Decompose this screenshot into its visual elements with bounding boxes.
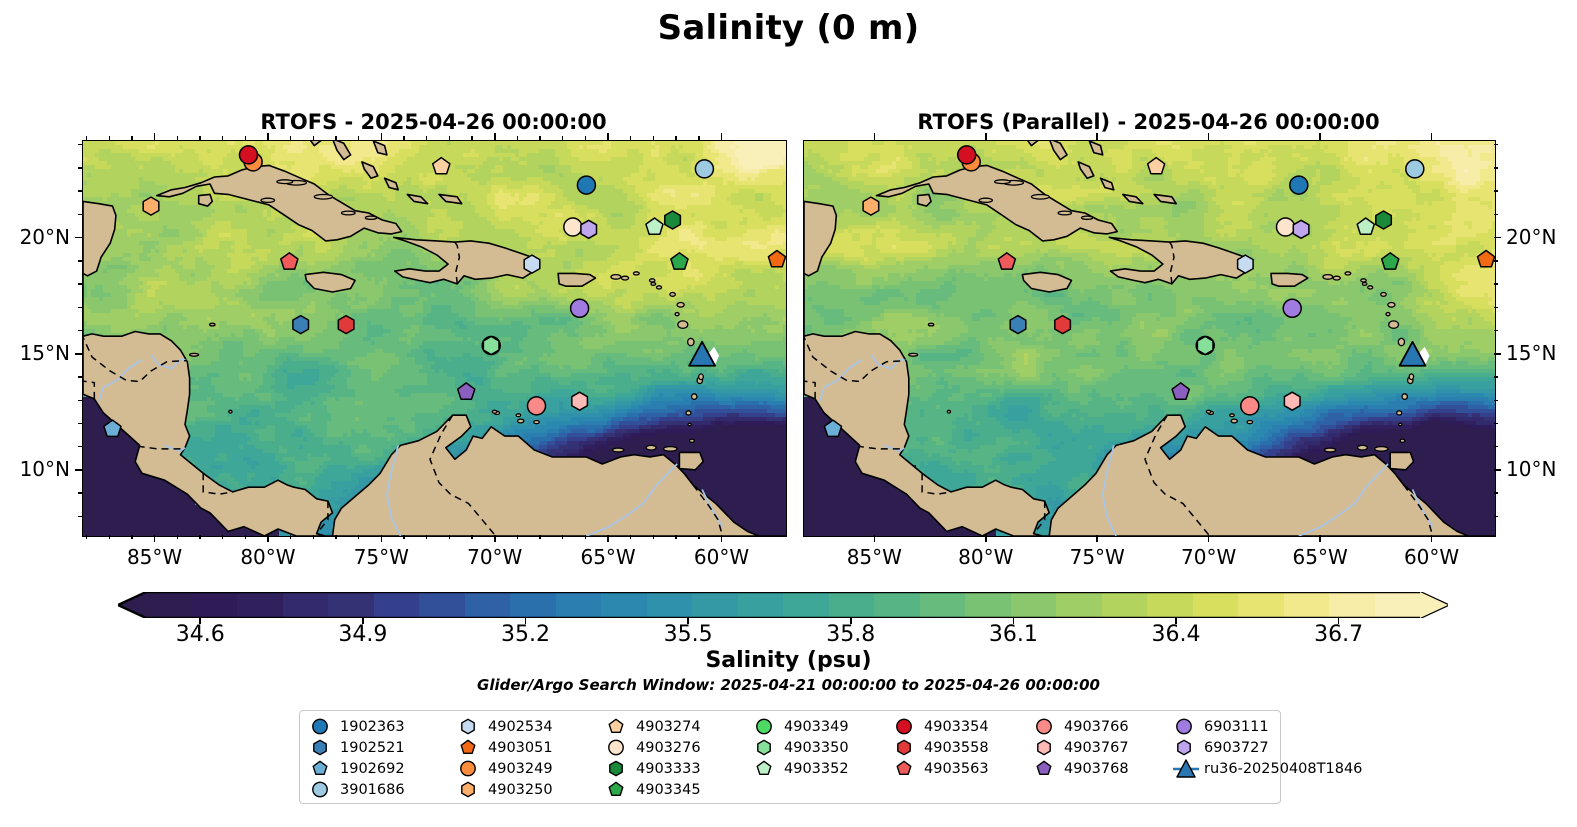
ytick-minor	[78, 214, 82, 215]
xtick-minor	[630, 535, 631, 539]
colorbar-segment	[1147, 592, 1193, 618]
ytick-minor	[1494, 423, 1498, 424]
xtick-major	[267, 535, 269, 542]
legend-label: 4903276	[634, 740, 701, 756]
legend-marker-4903768	[1032, 758, 1062, 779]
legend-label: 4902534	[486, 719, 553, 735]
xtick-minor-top	[539, 136, 540, 140]
legend-label: 4903333	[634, 761, 701, 777]
xtick-major-top	[607, 133, 609, 140]
legend-label: 4903352	[782, 761, 849, 777]
xtick-minor-top	[471, 136, 472, 140]
xtick-major-top	[721, 133, 723, 140]
ytick-minor	[1494, 190, 1498, 191]
legend-marker-1902521	[308, 737, 338, 758]
xtick-minor	[131, 535, 132, 539]
legend-item[interactable]: 1902363	[308, 716, 456, 737]
xtick-label: 75°W	[1052, 545, 1142, 569]
xtick-minor-top	[222, 136, 223, 140]
xtick-minor	[675, 535, 676, 539]
colorbar-segment	[237, 592, 283, 618]
legend-item[interactable]: 4902534	[456, 716, 604, 737]
legend-item[interactable]: 4903249	[456, 758, 604, 779]
ytick-major	[75, 353, 82, 355]
legend-item[interactable]: 6903727	[1172, 737, 1362, 758]
colorbar-segment	[1284, 592, 1330, 618]
xtick-minor-top	[109, 136, 110, 140]
ytick-minor	[1494, 400, 1498, 401]
ytick-minor	[78, 260, 82, 261]
legend-label: 4903051	[486, 740, 553, 756]
xtick-minor-top	[426, 136, 427, 140]
xtick-minor	[653, 535, 654, 539]
colorbar-segment	[1011, 592, 1057, 618]
xtick-major-top	[381, 133, 383, 140]
legend-item[interactable]: 4903352	[752, 758, 892, 779]
legend-item[interactable]: 4903766	[1032, 716, 1172, 737]
colorbar-tick-label: 35.2	[465, 622, 585, 647]
legend-column: 490376649037674903768	[1032, 716, 1172, 800]
legend-item[interactable]: 4903558	[892, 737, 1032, 758]
ytick-minor	[1494, 167, 1498, 168]
xtick-minor-top	[585, 136, 586, 140]
marker-4903250	[863, 197, 879, 215]
xtick-minor-top	[177, 136, 178, 140]
xtick-label: 80°W	[223, 545, 313, 569]
legend-marker-1902363	[308, 716, 338, 737]
ytick-minor	[1494, 307, 1498, 308]
legend-item[interactable]: 4903274	[604, 716, 752, 737]
marker-4903350	[1197, 337, 1213, 355]
xtick-minor-top	[630, 136, 631, 140]
ytick-minor	[1494, 330, 1498, 331]
xtick-major-top	[1431, 133, 1433, 140]
ytick-minor	[1494, 492, 1498, 493]
colorbar[interactable]	[118, 592, 1448, 618]
colorbar-segment	[283, 592, 329, 618]
xtick-major	[607, 535, 609, 542]
legend-label: 4903767	[1062, 740, 1129, 756]
colorbar-segment	[1375, 592, 1421, 618]
xtick-major-top	[494, 133, 496, 140]
legend-marker-4903766	[1032, 716, 1062, 737]
xtick-minor	[313, 535, 314, 539]
xtick-minor	[86, 535, 87, 539]
xtick-label: 70°W	[450, 545, 540, 569]
xtick-major	[1208, 535, 1210, 542]
xtick-major-top	[267, 133, 269, 140]
legend-label: 4903349	[782, 719, 849, 735]
xtick-minor-top	[335, 136, 336, 140]
legend-marker-4903333	[604, 758, 634, 779]
ytick-minor	[78, 376, 82, 377]
xtick-minor-top	[517, 136, 518, 140]
colorbar-segment	[1238, 592, 1284, 618]
legend-label: 4903249	[486, 761, 553, 777]
xtick-major	[985, 535, 987, 542]
ytick-minor	[1494, 283, 1498, 284]
marker-4903276	[564, 218, 582, 236]
colorbar-segment	[601, 592, 647, 618]
legend-marker-4903051	[456, 737, 486, 758]
marker-1902521	[293, 316, 309, 334]
marker-6903727	[1293, 220, 1309, 238]
marker-3901686	[695, 160, 713, 178]
legend-column: 490335449035584903563	[892, 716, 1032, 800]
colorbar-segment	[647, 592, 693, 618]
legend-item[interactable]: 3901686	[308, 779, 456, 800]
xtick-minor-top	[245, 136, 246, 140]
search-window-caption: Glider/Argo Search Window: 2025-04-21 00…	[0, 676, 1577, 694]
marker-3901686	[1406, 160, 1424, 178]
xtick-label: 85°W	[110, 545, 200, 569]
colorbar-tick-label: 36.7	[1279, 622, 1399, 647]
xtick-minor	[449, 535, 450, 539]
xtick-major	[721, 535, 723, 542]
colorbar-segment	[965, 592, 1011, 618]
ytick-minor	[78, 167, 82, 168]
marker-4902534	[524, 255, 540, 273]
legend-marker-4903276	[604, 737, 634, 758]
figure-suptitle: Salinity (0 m)	[0, 8, 1577, 48]
ytick-label: 20°N	[0, 225, 70, 249]
colorbar-tick-label: 34.9	[303, 622, 423, 647]
legend-marker-4903767	[1032, 737, 1062, 758]
colorbar-segment	[1193, 592, 1239, 618]
legend-marker-4903249	[456, 758, 486, 779]
ytick-minor	[78, 400, 82, 401]
marker-6903727	[581, 220, 597, 238]
colorbar-tick-label: 35.5	[628, 622, 748, 647]
colorbar-segment	[328, 592, 374, 618]
marker-4902534	[1238, 255, 1254, 273]
colorbar-tick-label: 36.4	[1116, 622, 1236, 647]
legend-item[interactable]: 4903768	[1032, 758, 1172, 779]
marker-4903558	[1055, 316, 1071, 334]
legend-label: 4903558	[922, 740, 989, 756]
xtick-minor-top	[86, 136, 87, 140]
legend-item[interactable]: ru36-20250408T1846	[1172, 758, 1362, 779]
ytick-minor	[78, 492, 82, 493]
marker-4903766	[1241, 397, 1259, 415]
xtick-minor	[562, 535, 563, 539]
colorbar-segment	[556, 592, 602, 618]
map-panel-rtofs[interactable]	[82, 140, 787, 537]
colorbar-tick-label: 34.6	[140, 622, 260, 647]
colorbar-segment	[692, 592, 738, 618]
legend-item[interactable]: 4903563	[892, 758, 1032, 779]
legend-label: 4903345	[634, 782, 701, 798]
marker-4903558	[338, 316, 354, 334]
colorbar-segment	[465, 592, 511, 618]
colorbar-segment	[783, 592, 829, 618]
xtick-minor-top	[403, 136, 404, 140]
legend-marker-4903350	[752, 737, 782, 758]
marker-4903333	[1376, 211, 1392, 229]
ytick-major	[1494, 237, 1501, 239]
xtick-minor	[177, 535, 178, 539]
ytick-minor	[78, 446, 82, 447]
ytick-minor	[78, 516, 82, 517]
legend-column: 490334949033504903352	[752, 716, 892, 800]
legend-marker-4903352	[752, 758, 782, 779]
colorbar-gradient	[146, 592, 1420, 618]
legend-marker-4903250	[456, 779, 486, 800]
legend-column: 4902534490305149032494903250	[456, 716, 604, 800]
ytick-minor	[1494, 376, 1498, 377]
legend-label: 6903727	[1202, 740, 1269, 756]
xtick-minor-top	[131, 136, 132, 140]
legend-item[interactable]: 6903111	[1172, 716, 1362, 737]
xtick-minor	[585, 535, 586, 539]
ytick-minor	[1494, 214, 1498, 215]
legend-item[interactable]: 4903250	[456, 779, 604, 800]
legend-label: 4903768	[1062, 761, 1129, 777]
legend-label: 3901686	[338, 782, 405, 798]
xtick-minor	[199, 535, 200, 539]
xtick-minor	[517, 535, 518, 539]
xtick-label: 80°W	[941, 545, 1031, 569]
xtick-minor-top	[199, 136, 200, 140]
ytick-minor	[78, 307, 82, 308]
panel-title-right: RTOFS (Parallel) - 2025-04-26 00:00:00	[803, 110, 1494, 134]
colorbar-tick-label: 36.1	[953, 622, 1073, 647]
xtick-major-top	[1208, 133, 1210, 140]
legend-marker-6903727	[1172, 737, 1202, 758]
xtick-label: 65°W	[563, 545, 653, 569]
xtick-label: 60°W	[1387, 545, 1477, 569]
marker-4903767	[1284, 392, 1300, 410]
xtick-major-top	[985, 133, 987, 140]
colorbar-segment	[874, 592, 920, 618]
xtick-minor-top	[653, 136, 654, 140]
marker-4903354	[958, 146, 976, 164]
legend-label: 4903250	[486, 782, 553, 798]
legend-marker-3901686	[308, 779, 338, 800]
legend-label: ru36-20250408T1846	[1202, 761, 1362, 777]
legend-item[interactable]: 4903276	[604, 737, 752, 758]
legend-marker-4902534	[456, 716, 486, 737]
xtick-minor-top	[675, 136, 676, 140]
xtick-major	[1431, 535, 1433, 542]
xtick-major	[1319, 535, 1321, 542]
legend-label: 1902692	[338, 761, 405, 777]
ytick-minor	[1494, 144, 1498, 145]
colorbar-arrow-low	[118, 592, 146, 618]
colorbar-segment	[920, 592, 966, 618]
legend-label: 4903350	[782, 740, 849, 756]
colorbar-segment	[738, 592, 784, 618]
legend-label: 4903766	[1062, 719, 1129, 735]
ytick-minor	[1494, 446, 1498, 447]
legend-marker-1902692	[308, 758, 338, 779]
colorbar-segment	[146, 592, 192, 618]
legend-item[interactable]: 4903349	[752, 716, 892, 737]
marker-4903333	[665, 211, 681, 229]
colorbar-segment	[419, 592, 465, 618]
xtick-minor	[426, 535, 427, 539]
legend-item[interactable]: 4903051	[456, 737, 604, 758]
xtick-major	[154, 535, 156, 542]
ytick-label: 10°N	[0, 457, 70, 481]
marker-1902363	[577, 176, 595, 194]
legend-item[interactable]: 4903333	[604, 758, 752, 779]
map-panel-rtofs-parallel[interactable]	[803, 140, 1496, 537]
ytick-major	[1494, 353, 1501, 355]
legend-marker-4903354	[892, 716, 922, 737]
ytick-major	[75, 469, 82, 471]
marker-4903766	[528, 397, 546, 415]
xtick-major	[381, 535, 383, 542]
ytick-major	[1494, 469, 1501, 471]
legend-marker-4903558	[892, 737, 922, 758]
xtick-minor-top	[290, 136, 291, 140]
legend-marker-4903349	[752, 716, 782, 737]
xtick-minor	[109, 535, 110, 539]
legend-label: 1902363	[338, 719, 405, 735]
xtick-minor-top	[358, 136, 359, 140]
legend-label: 1902521	[338, 740, 405, 756]
xtick-minor	[335, 535, 336, 539]
xtick-minor	[358, 535, 359, 539]
marker-4903350	[483, 337, 499, 355]
legend-marker-4903274	[604, 716, 634, 737]
xtick-major	[874, 535, 876, 542]
marker-4903767	[572, 392, 588, 410]
xtick-minor	[245, 535, 246, 539]
colorbar-segment	[829, 592, 875, 618]
ytick-major	[75, 237, 82, 239]
ytick-minor	[78, 283, 82, 284]
map-raster-left	[83, 141, 786, 536]
colorbar-tick-label: 35.8	[791, 622, 911, 647]
legend-item[interactable]: 4903345	[604, 779, 752, 800]
xtick-minor	[403, 535, 404, 539]
marker-1902521	[1010, 316, 1026, 334]
xtick-minor-top	[449, 136, 450, 140]
colorbar-segment	[510, 592, 556, 618]
platform-legend[interactable]: 1902363190252119026923901686490253449030…	[299, 710, 1281, 804]
marker-6903111	[1283, 299, 1301, 317]
xtick-major-top	[1096, 133, 1098, 140]
ytick-label: 20°N	[1506, 225, 1556, 249]
xtick-major	[494, 535, 496, 542]
ytick-label: 15°N	[0, 341, 70, 365]
xtick-major-top	[1319, 133, 1321, 140]
panel-title-left: RTOFS - 2025-04-26 00:00:00	[82, 110, 785, 134]
legend-column: 69031116903727ru36-20250408T1846	[1172, 716, 1362, 800]
ytick-label: 15°N	[1506, 341, 1556, 365]
xtick-minor	[698, 535, 699, 539]
xtick-minor	[539, 535, 540, 539]
legend-label: 4903354	[922, 719, 989, 735]
legend-marker-6903111	[1172, 716, 1202, 737]
ytick-minor	[1494, 260, 1498, 261]
xtick-major	[1096, 535, 1098, 542]
legend-item[interactable]: 4903350	[752, 737, 892, 758]
colorbar-segment	[1329, 592, 1375, 618]
legend-column: 1902363190252119026923901686	[308, 716, 456, 800]
xtick-major-top	[154, 133, 156, 140]
xtick-minor-top	[562, 136, 563, 140]
xtick-minor	[222, 535, 223, 539]
legend-label: 6903111	[1202, 719, 1269, 735]
legend-item[interactable]: 1902692	[308, 758, 456, 779]
legend-item[interactable]: 1902521	[308, 737, 456, 758]
marker-1902363	[1290, 176, 1308, 194]
colorbar-segment	[374, 592, 420, 618]
xtick-label: 65°W	[1275, 545, 1365, 569]
xtick-major-top	[874, 133, 876, 140]
legend-item[interactable]: 4903354	[892, 716, 1032, 737]
figure-canvas: Salinity (0 m) RTOFS - 2025-04-26 00:00:…	[0, 0, 1577, 827]
colorbar-segment	[1102, 592, 1148, 618]
ytick-minor	[78, 423, 82, 424]
ytick-label: 10°N	[1506, 457, 1556, 481]
legend-column: 4903274490327649033334903345	[604, 716, 752, 800]
colorbar-segment	[1056, 592, 1102, 618]
legend-item[interactable]: 4903767	[1032, 737, 1172, 758]
map-raster-right	[804, 141, 1495, 536]
marker-4903354	[240, 146, 258, 164]
legend-marker-4903345	[604, 779, 634, 800]
marker-4903276	[1277, 218, 1295, 236]
ytick-minor	[78, 190, 82, 191]
legend-label: 4903563	[922, 761, 989, 777]
ytick-minor	[1494, 516, 1498, 517]
colorbar-segment	[192, 592, 238, 618]
xtick-minor	[290, 535, 291, 539]
marker-6903111	[571, 299, 589, 317]
ytick-minor	[78, 330, 82, 331]
marker-4903250	[143, 197, 159, 215]
colorbar-arrow-high	[1420, 592, 1448, 618]
xtick-minor-top	[698, 136, 699, 140]
xtick-minor	[471, 535, 472, 539]
xtick-label: 70°W	[1164, 545, 1254, 569]
xtick-label: 60°W	[677, 545, 767, 569]
legend-marker-4903563	[892, 758, 922, 779]
xtick-label: 85°W	[829, 545, 919, 569]
legend-marker-ru36-20250408T1846	[1172, 758, 1202, 779]
xtick-label: 75°W	[336, 545, 426, 569]
legend-label: 4903274	[634, 719, 701, 735]
xtick-minor-top	[313, 136, 314, 140]
colorbar-title: Salinity (psu)	[0, 648, 1577, 673]
ytick-minor	[78, 144, 82, 145]
